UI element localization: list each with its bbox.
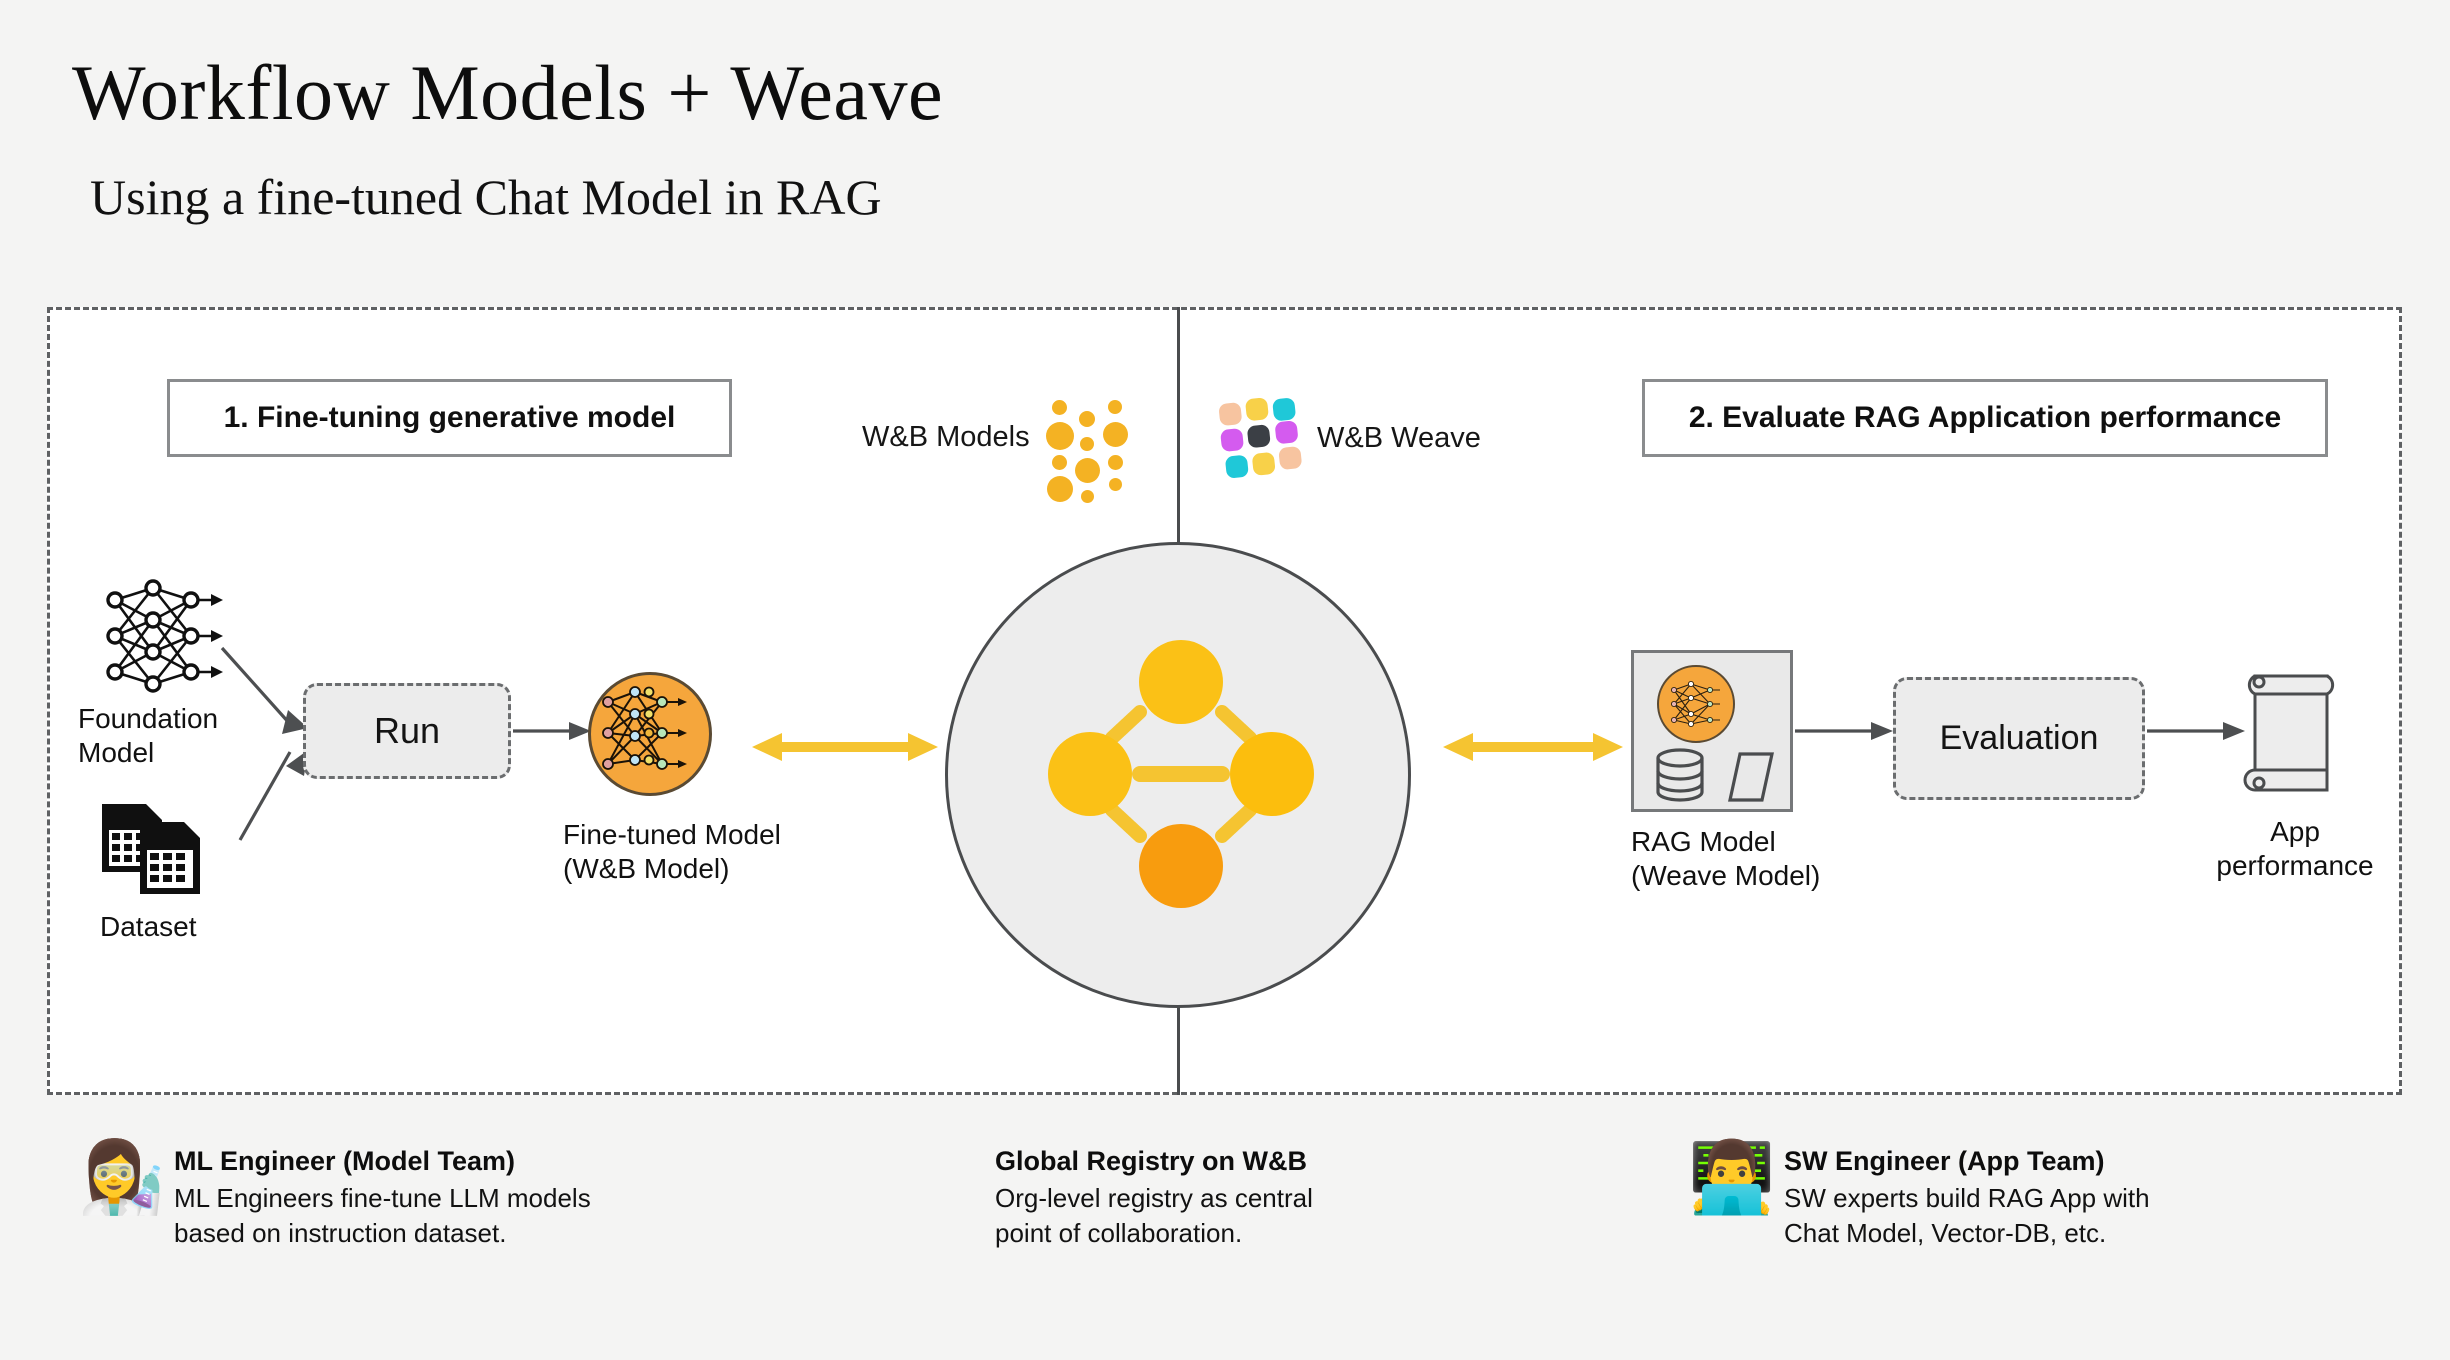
- arrow-rag-to-evaluation: [1795, 716, 1895, 746]
- persona-sw-engineer: 👨‍💻 SW Engineer (App Team) SW experts bu…: [1688, 1142, 2150, 1251]
- yellow-double-arrow-right: [1443, 728, 1623, 766]
- page-title: Workflow Models + Weave: [72, 48, 943, 138]
- app-performance-label: App performance: [2195, 815, 2395, 883]
- finetuned-model-label: Fine-tuned Model (W&B Model): [563, 818, 863, 886]
- wandb-weave-logo-icon: [1217, 394, 1305, 482]
- brand-wandb-weave: W&B Weave: [1221, 398, 1481, 478]
- rag-model-contents-icon: [1648, 662, 1782, 800]
- persona-ml-engineer: 👩‍🔬 ML Engineer (Model Team) ML Engineer…: [78, 1142, 591, 1251]
- scroll-document-icon: [2243, 658, 2349, 804]
- persona-sw-desc: SW experts build RAG App with Chat Model…: [1784, 1181, 2150, 1251]
- persona-global-registry: Global Registry on W&B Org-level registr…: [995, 1142, 1313, 1251]
- evaluation-box[interactable]: Evaluation: [1893, 677, 2145, 800]
- arrow-evaluation-to-app-performance: [2147, 716, 2247, 746]
- run-box[interactable]: Run: [303, 683, 511, 779]
- brand-models-label: W&B Models: [862, 421, 1030, 454]
- brand-weave-label: W&B Weave: [1317, 422, 1481, 455]
- persona-ml-title: ML Engineer (Model Team): [174, 1146, 591, 1177]
- arrow-run-to-finetuned: [513, 716, 593, 746]
- section-header-finetuning: 1. Fine-tuning generative model: [167, 379, 732, 457]
- persona-ml-desc: ML Engineers fine-tune LLM models based …: [174, 1181, 591, 1251]
- brand-wandb-models: W&B Models: [862, 398, 1124, 476]
- persona-registry-title: Global Registry on W&B: [995, 1146, 1313, 1177]
- registry-network-nodes-icon: [1040, 620, 1320, 920]
- rag-model-label: RAG Model (Weave Model): [1631, 825, 1951, 893]
- page-subtitle: Using a fine-tuned Chat Model in RAG: [90, 168, 882, 226]
- section-header-evaluate: 2. Evaluate RAG Application performance: [1642, 379, 2328, 457]
- persona-registry-desc: Org-level registry as central point of c…: [995, 1181, 1313, 1251]
- diagram-canvas: Workflow Models + Weave Using a fine-tun…: [0, 0, 2450, 1360]
- woman-scientist-icon: 👩‍🔬: [78, 1142, 158, 1212]
- persona-sw-title: SW Engineer (App Team): [1784, 1146, 2150, 1177]
- yellow-double-arrow-left: [752, 728, 938, 766]
- finetuned-model-icon: [588, 672, 712, 796]
- wandb-models-logo-icon: [1046, 398, 1124, 476]
- man-technologist-icon: 👨‍💻: [1688, 1142, 1768, 1212]
